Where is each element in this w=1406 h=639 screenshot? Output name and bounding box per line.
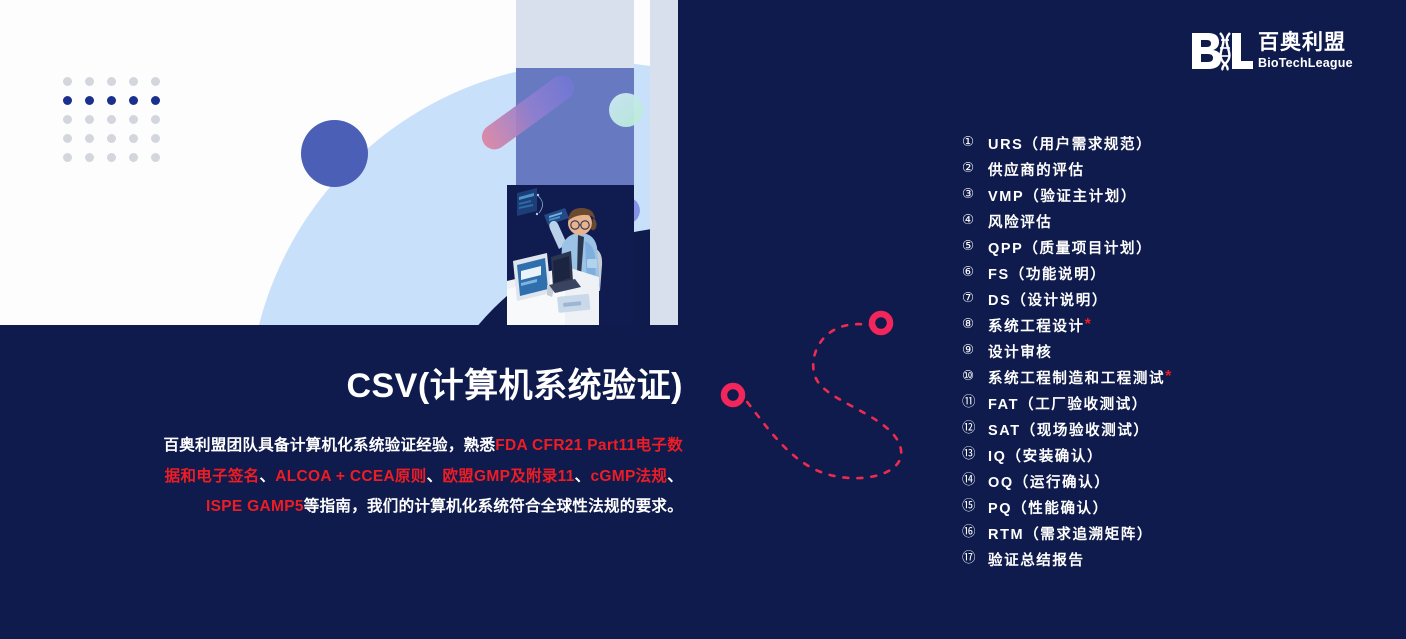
paragraph-run-8: 、 [667, 468, 683, 485]
hero-artwork [0, 0, 678, 325]
list-item[interactable]: ⑦DS（设计说明） [962, 286, 1382, 312]
path-marker-start [724, 386, 742, 404]
list-item[interactable]: ⑯RTM（需求追溯矩阵） [962, 520, 1382, 546]
list-item-label: 设计审核 [988, 341, 1052, 362]
hero-copy-block: CSV(计算机系统验证) 百奥利盟团队具备计算机化系统验证经验，熟悉FDA CF… [150, 368, 683, 522]
slide-canvas: CSV(计算机系统验证) 百奥利盟团队具备计算机化系统验证经验，熟悉FDA CF… [0, 0, 1406, 639]
list-item-number: ⑰ [962, 552, 988, 566]
list-item[interactable]: ②供应商的评估 [962, 156, 1382, 182]
dot-grid-decoration [63, 77, 173, 172]
list-item-label: 系统工程制造和工程测试 [988, 367, 1165, 388]
list-item[interactable]: ⑨设计审核 [962, 338, 1382, 364]
list-item-number: ⑬ [962, 448, 988, 462]
list-item[interactable]: ⑥FS（功能说明） [962, 260, 1382, 286]
list-item[interactable]: ④风险评估 [962, 208, 1382, 234]
list-item-number: ⑦ [962, 292, 988, 306]
required-asterisk: * [1165, 368, 1171, 386]
mint-blob-shape [609, 93, 643, 127]
list-item-label: 验证总结报告 [988, 549, 1085, 570]
hero-paragraph: 百奥利盟团队具备计算机化系统验证经验，熟悉FDA CFR21 Part11电子数… [150, 431, 683, 522]
list-item-number: ⑮ [962, 500, 988, 514]
paragraph-run-9: ISPE GAMP5 [206, 498, 304, 515]
paragraph-run-7: cGMP法规 [590, 468, 667, 485]
list-item[interactable]: ⑮PQ（性能确认） [962, 494, 1382, 520]
list-item-label: IQ（安装确认） [988, 445, 1103, 466]
list-item[interactable]: ⑤QPP（质量项目计划） [962, 234, 1382, 260]
list-item-number: ⑥ [962, 266, 988, 280]
list-item-label: 风险评估 [988, 211, 1052, 232]
list-item-number: ⑤ [962, 240, 988, 254]
page-title: CSV(计算机系统验证) [150, 368, 683, 405]
list-item-label: FS（功能说明） [988, 263, 1106, 284]
list-item-number: ③ [962, 188, 988, 202]
list-item[interactable]: ⑪FAT（工厂验收测试） [962, 390, 1382, 416]
dashed-path-decoration [700, 300, 940, 500]
brand-name-cn: 百奥利盟 [1258, 31, 1346, 54]
list-item-label: PQ（性能确认） [988, 497, 1109, 518]
list-item[interactable]: ⑫SAT（现场验收测试） [962, 416, 1382, 442]
list-item-label: URS（用户需求规范） [988, 133, 1152, 154]
required-asterisk: * [1085, 316, 1091, 334]
list-item[interactable]: ③VMP（验证主计划） [962, 182, 1382, 208]
paragraph-run-6: 、 [575, 468, 591, 485]
list-item-label: QPP（质量项目计划） [988, 237, 1152, 258]
paragraph-run-0: 百奥利盟团队具备计算机化系统验证经验，熟悉 [163, 437, 495, 454]
blue-circle-shape [301, 120, 368, 187]
list-item-number: ⑭ [962, 474, 988, 488]
brand-wordmark: 百奥利盟 BioTechLeague [1258, 32, 1353, 72]
list-item-label: VMP（验证主计划） [988, 185, 1137, 206]
paragraph-run-5: 欧盟GMP及附录11 [442, 468, 574, 485]
list-item-number: ⑧ [962, 318, 988, 332]
list-item-number: ⑩ [962, 370, 988, 384]
engineer-at-workstation-illustration [507, 185, 634, 325]
list-item-label: 系统工程设计 [988, 315, 1085, 336]
list-item[interactable]: ⑩系统工程制造和工程测试* [962, 364, 1382, 390]
list-item-label: RTM（需求追溯矩阵） [988, 523, 1153, 544]
list-item-number: ④ [962, 214, 988, 228]
list-item[interactable]: ⑰验证总结报告 [962, 546, 1382, 572]
list-item-label: FAT（工厂验收测试） [988, 393, 1148, 414]
brand-name-en: BioTechLeague [1258, 56, 1353, 70]
paragraph-run-3: ALCOA + CCEA原则 [275, 468, 426, 485]
paragraph-run-2: 、 [259, 468, 275, 485]
list-item-number: ⑫ [962, 422, 988, 436]
gray-stripe-shape [650, 0, 678, 325]
list-item-label: OQ（运行确认） [988, 471, 1110, 492]
list-item-label: 供应商的评估 [988, 159, 1085, 180]
paragraph-run-10: 等指南，我们的计算机化系统符合全球性法规的要求。 [304, 498, 683, 515]
csv-deliverables-list: ①URS（用户需求规范）②供应商的评估③VMP（验证主计划）④风险评估⑤QPP（… [962, 130, 1382, 572]
path-marker-end [872, 314, 890, 332]
list-item-number: ⑯ [962, 526, 988, 540]
list-item-number: ⑪ [962, 396, 988, 410]
paragraph-run-4: 、 [427, 468, 443, 485]
list-item-label: SAT（现场验收测试） [988, 419, 1150, 440]
list-item[interactable]: ⑧系统工程设计* [962, 312, 1382, 338]
list-item[interactable]: ①URS（用户需求规范） [962, 130, 1382, 156]
list-item[interactable]: ⑭OQ（运行确认） [962, 468, 1382, 494]
list-item[interactable]: ⑬IQ（安装确认） [962, 442, 1382, 468]
list-item-number: ⑨ [962, 344, 988, 358]
list-item-label: DS（设计说明） [988, 289, 1108, 310]
brand-logo[interactable]: 百奥利盟 BioTechLeague [1190, 28, 1365, 76]
list-item-number: ① [962, 136, 988, 150]
list-item-number: ② [962, 162, 988, 176]
bl-dna-logo-icon [1190, 29, 1254, 75]
